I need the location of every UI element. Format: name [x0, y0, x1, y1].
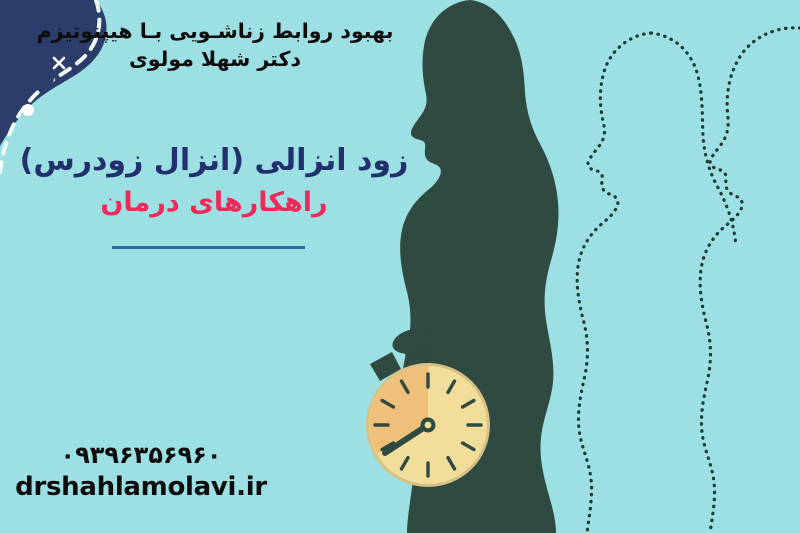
- header-text-block: بهبود روابط زناشـویی بـا هیپنوتیزم دکتر …: [0, 18, 430, 73]
- stopwatch-hub-center: [425, 422, 432, 429]
- stopwatch-ticks: [375, 374, 481, 476]
- website-url: drshahlamolavi.ir: [0, 471, 282, 504]
- dotted-profile-outline-2: [700, 28, 800, 533]
- stopwatch-rim: [366, 363, 490, 487]
- stopwatch-face: [369, 366, 487, 484]
- header-line-1: بهبود روابط زناشـویی بـا هیپنوتیزم: [0, 18, 430, 46]
- headline-main: زود انزالی (انزال زودرس): [0, 138, 428, 183]
- stopwatch-side-button: [370, 352, 401, 381]
- phone-number: ۰۹۳۹۶۳۵۶۹۶۰: [0, 440, 282, 471]
- stopwatch-hand: [385, 425, 428, 453]
- promo-banner: بهبود روابط زناشـویی بـا هیپنوتیزم دکتر …: [0, 0, 800, 533]
- header-line-2: دکتر شهلا مولوی: [0, 46, 430, 74]
- stopwatch-icon: [366, 324, 490, 487]
- dotted-profile-outline-1: [577, 33, 736, 533]
- headline-block: زود انزالی (انزال زودرس) راهکارهای درمان: [0, 138, 428, 224]
- white-dot: [22, 104, 34, 116]
- headline-sub: راهکارهای درمان: [0, 183, 428, 224]
- headline-underline: [112, 246, 305, 249]
- stopwatch-hub: [421, 418, 436, 433]
- stopwatch-elapsed-sector: [369, 366, 428, 454]
- contact-block: ۰۹۳۹۶۳۵۶۹۶۰ drshahlamolavi.ir: [0, 440, 282, 504]
- man-profile-silhouette: [400, 0, 558, 533]
- stopwatch-crown: [390, 324, 438, 362]
